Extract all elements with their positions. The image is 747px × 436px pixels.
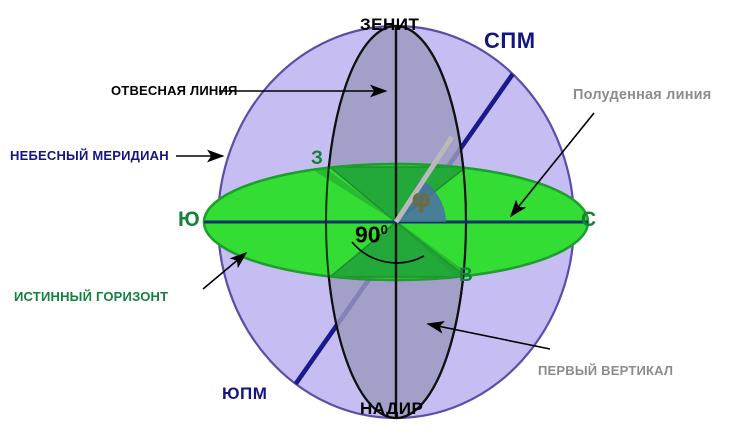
right-angle-unit: 0: [381, 222, 388, 237]
cardinal-south: Ю: [178, 209, 200, 230]
spm-label: СПМ: [484, 30, 536, 52]
zenith-label: ЗЕНИТ: [360, 16, 419, 33]
cardinal-east: В: [459, 266, 473, 285]
cardinal-west: З: [311, 149, 323, 168]
yupm-label: ЮПМ: [222, 385, 267, 402]
cardinal-north: С: [581, 209, 596, 230]
first-vertical-label: ПЕРВЫЙ ВЕРТИКАЛ: [538, 364, 673, 377]
latitude-phi-label: φ: [411, 186, 431, 212]
right-angle-value: 90: [355, 222, 381, 248]
right-angle-label: 900: [355, 223, 388, 247]
celestial-sphere-diagram: ЗЕНИТ НАДИР СПМ ЮПМ ОТВЕСНАЯ ЛИНИЯ НЕБЕС…: [0, 0, 747, 436]
noon-line-label: Полуденная линия: [573, 88, 711, 103]
celestial-meridian-label: НЕБЕСНЫЙ МЕРИДИАН: [10, 149, 169, 162]
true-horizon-label: ИСТИННЫЙ ГОРИЗОНТ: [14, 290, 168, 303]
plumb-line-label: ОТВЕСНАЯ ЛИНИЯ: [111, 84, 238, 97]
nadir-label: НАДИР: [360, 400, 423, 417]
